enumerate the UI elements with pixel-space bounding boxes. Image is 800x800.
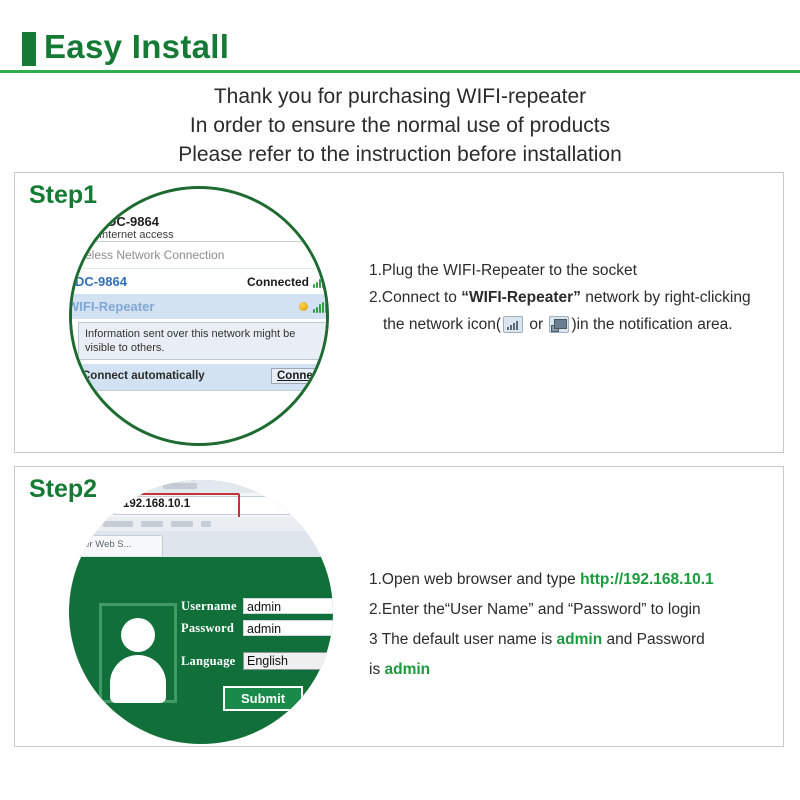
username-label: Username (181, 599, 243, 614)
language-selected-value: English (247, 653, 288, 670)
globe-icon (79, 225, 93, 239)
wifi-network-status-group: Connected (247, 275, 327, 289)
network-computer-tray-icon (549, 316, 569, 333)
wifi-signal-tray-icon (503, 316, 523, 333)
step2-line3-suffix: and Password (602, 631, 705, 648)
step1-line2-prefix: 2.Connect to (369, 289, 461, 306)
wifi-network-row-connected[interactable]: TDC-9864 Connected (69, 269, 329, 294)
wifi-network-name: WIFI-Repeater (69, 299, 154, 314)
bookmark-ghost-3 (103, 521, 133, 527)
chevron-up-icon[interactable]: ▲ (318, 250, 327, 260)
header-divider (0, 70, 800, 73)
warning-shield-icon (299, 302, 308, 311)
connect-button[interactable]: Connect (271, 368, 329, 384)
step2-instruction-line-3: 3 The default user name is admin and Pas… (369, 625, 779, 655)
step1-line3-or: or (525, 316, 547, 333)
password-row: Password admin (181, 620, 333, 636)
favicon-icon (92, 499, 103, 510)
step1-panel: Step1 TDC-9864 Internet access Wireless … (14, 172, 784, 453)
default-password-value: admin (385, 661, 431, 678)
avatar-body-icon (110, 655, 166, 703)
connect-automatically-option[interactable]: Connect automatically (69, 370, 205, 382)
step2-instruction-line-2: 2.Enter the“User Name” and “Password” to… (369, 595, 779, 625)
router-url: http://192.168.10.1 (580, 571, 714, 588)
step2-panel: Step2 192.168.10.1 eater Web S... (14, 466, 784, 747)
chevron-down-icon: ▼ (328, 653, 333, 670)
avatar-head-icon (121, 618, 155, 652)
bookmark-ghost-5 (171, 521, 193, 527)
language-label: Language (181, 654, 243, 669)
connect-automatically-checkbox[interactable] (69, 371, 77, 382)
step1-instructions: 1.Plug the WIFI-Repeater to the socket 2… (369, 257, 773, 338)
address-bar-url: 192.168.10.1 (123, 498, 190, 510)
intro-line-2: In order to ensure the normal use of pro… (0, 111, 800, 140)
bookmark-ghost-6 (201, 521, 211, 527)
avatar (99, 603, 177, 703)
login-form: Username admin Password admin Language E… (181, 598, 333, 711)
step1-label: Step1 (29, 181, 97, 210)
wifi-network-status-group (299, 300, 327, 313)
step1-illustration-circle: TDC-9864 Internet access Wireless Networ… (69, 186, 329, 446)
title-accent-block (22, 32, 36, 66)
wifi-network-name: TDC-9864 (69, 274, 127, 289)
wifi-current-connection: TDC-9864 Internet access (69, 211, 329, 241)
step1-line2-suffix: network by right-clicking (581, 289, 751, 306)
step2-instruction-line-1: 1.Open web browser and type http://192.1… (369, 565, 779, 595)
step2-line4-prefix: is (369, 661, 385, 678)
page-header: Easy Install (0, 0, 800, 72)
step1-line3-suffix: )in the notification area. (571, 316, 732, 333)
intro-line-3: Please refer to the instruction before i… (0, 140, 800, 169)
intro-line-1: Thank you for purchasing WIFI-repeater (0, 82, 800, 111)
language-select[interactable]: English ▼ (243, 652, 333, 670)
default-username-value: admin (557, 631, 603, 648)
step2-instructions: 1.Open web browser and type http://192.1… (369, 565, 779, 685)
step2-line1-prefix: 1.Open web browser and type (369, 571, 580, 588)
wifi-section-header-label: Wireless Network Connection (69, 248, 224, 262)
signal-bars-icon (313, 300, 327, 313)
wifi-security-note: Information sent over this network might… (78, 322, 329, 360)
password-input[interactable]: admin (243, 620, 333, 636)
browser-chrome-mock: 192.168.10.1 eater Web S... (69, 480, 333, 557)
step1-instruction-line-3: the network icon( or )in the notificatio… (369, 311, 773, 338)
step1-instruction-line-2: 2.Connect to “WIFI-Repeater” network by … (369, 284, 773, 311)
browser-tab-title: eater Web S... (71, 539, 132, 550)
wifi-network-status: Connected (247, 275, 309, 289)
signal-bars-icon (313, 275, 327, 288)
wifi-flyout: TDC-9864 Internet access Wireless Networ… (69, 211, 329, 391)
step2-line3-prefix: 3 The default user name is (369, 631, 557, 648)
wifi-top-ssid: TDC-9864 (99, 215, 329, 229)
submit-button[interactable]: Submit (223, 686, 303, 711)
username-row: Username admin (181, 598, 333, 614)
password-label: Password (181, 621, 243, 636)
wifi-section-header[interactable]: Wireless Network Connection ▲ (69, 242, 329, 269)
page-title: Easy Install (44, 28, 229, 66)
step1-line3-prefix: the network icon( (383, 316, 501, 333)
step1-instruction-line-1: 1.Plug the WIFI-Repeater to the socket (369, 257, 773, 284)
connect-automatically-label: Connect automatically (82, 370, 205, 382)
bookmark-ghost-2 (69, 521, 95, 527)
browser-menu-strip (69, 480, 333, 493)
wifi-connect-footer: Connect automatically Connect (69, 364, 329, 391)
intro-text: Thank you for purchasing WIFI-repeater I… (0, 82, 800, 169)
bookmark-ghost-4 (141, 521, 163, 527)
step2-instruction-line-4: is admin (369, 655, 779, 685)
wifi-network-list: Wireless Network Connection ▲ TDC-9864 C… (69, 241, 329, 360)
language-row: Language English ▼ (181, 652, 333, 670)
browser-menu-ghost-text (163, 483, 197, 489)
step1-line2-network-name: “WIFI-Repeater” (461, 289, 581, 306)
step2-illustration-circle: 192.168.10.1 eater Web S... Username adm… (69, 480, 333, 744)
username-input[interactable]: admin (243, 598, 333, 614)
wifi-network-row-repeater[interactable]: WIFI-Repeater (69, 294, 329, 319)
